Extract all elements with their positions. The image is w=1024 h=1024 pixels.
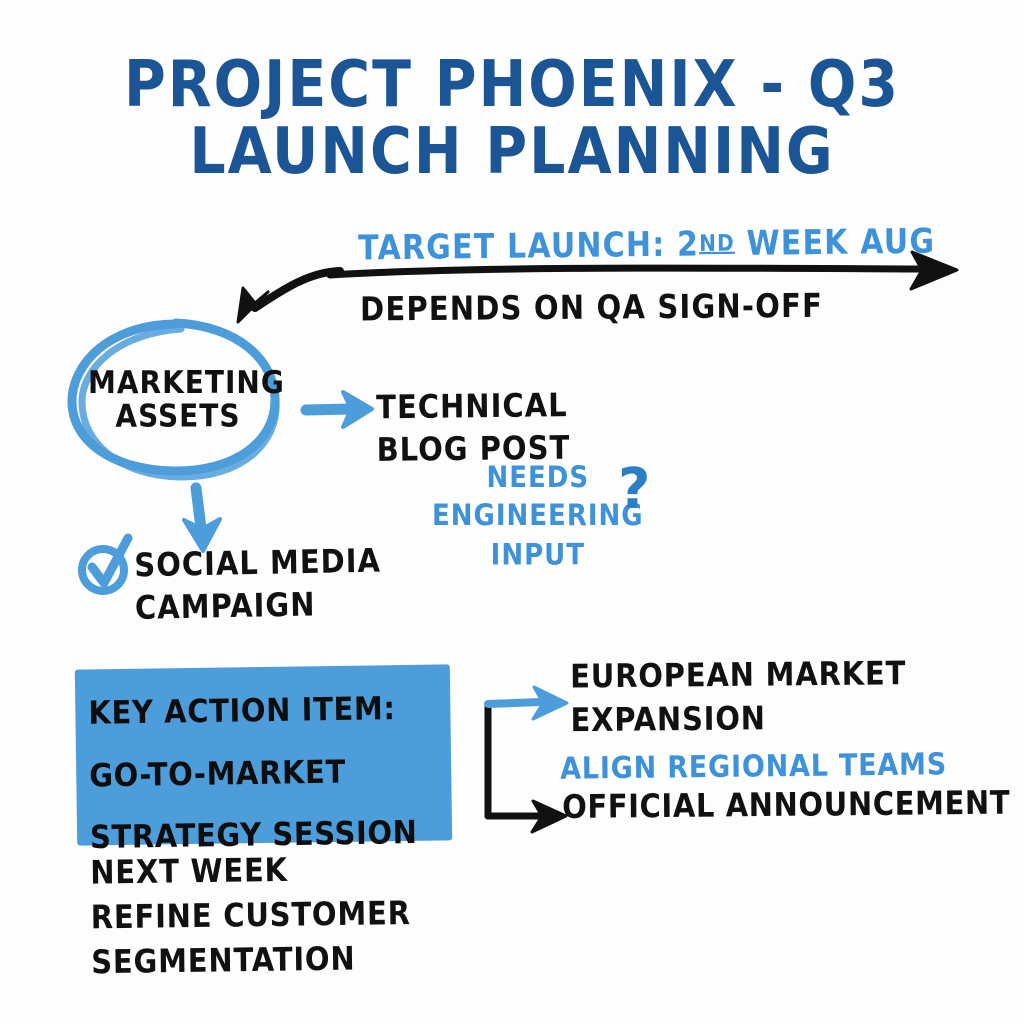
title-line-2: LAUNCH PLANNING <box>0 115 1024 190</box>
arrow-right-icon <box>306 392 372 427</box>
european-market-expansion-label: EUROPEAN MARKET EXPANSION <box>570 652 907 744</box>
bracket-split-icon <box>488 687 567 832</box>
title-line-1: PROJECT PHOENIX - Q3 <box>0 48 1024 123</box>
target-launch-ordinal: ND <box>699 229 735 257</box>
official-announcement-label: OFFICIAL ANNOUNCEMENT <box>562 786 1010 825</box>
key-action-followup-note: NEXT WEEK REFINE CUSTOMER SEGMENTATION <box>90 846 412 985</box>
check-circle-icon <box>82 538 128 591</box>
arrow-down-icon <box>184 488 220 551</box>
whiteboard-canvas: PROJECT PHOENIX - Q3 LAUNCH PLANNING <box>0 0 1024 1024</box>
align-regional-teams-note: ALIGN REGIONAL TEAMS <box>560 748 947 785</box>
key-action-item-label: KEY ACTION ITEM: GO-TO-MARKET STRATEGY S… <box>88 676 450 868</box>
marketing-assets-label: MARKETING ASSETS <box>88 366 268 434</box>
target-launch-label: TARGET LAUNCH: 2ND WEEK AUG <box>358 224 935 268</box>
qa-dependency-note: DEPENDS ON QA SIGN-OFF <box>360 288 823 327</box>
social-media-campaign-label: SOCIAL MEDIA CAMPAIGN <box>134 540 382 629</box>
target-launch-prefix: TARGET LAUNCH: 2 <box>358 225 699 269</box>
page-title: PROJECT PHOENIX - Q3 LAUNCH PLANNING <box>0 48 1024 183</box>
needs-engineering-input-note: NEEDS ENGINEERING INPUT <box>432 459 644 574</box>
question-mark-icon: ? <box>618 460 651 520</box>
target-launch-suffix: WEEK AUG <box>735 222 936 264</box>
curved-arrow-icon <box>238 271 340 322</box>
